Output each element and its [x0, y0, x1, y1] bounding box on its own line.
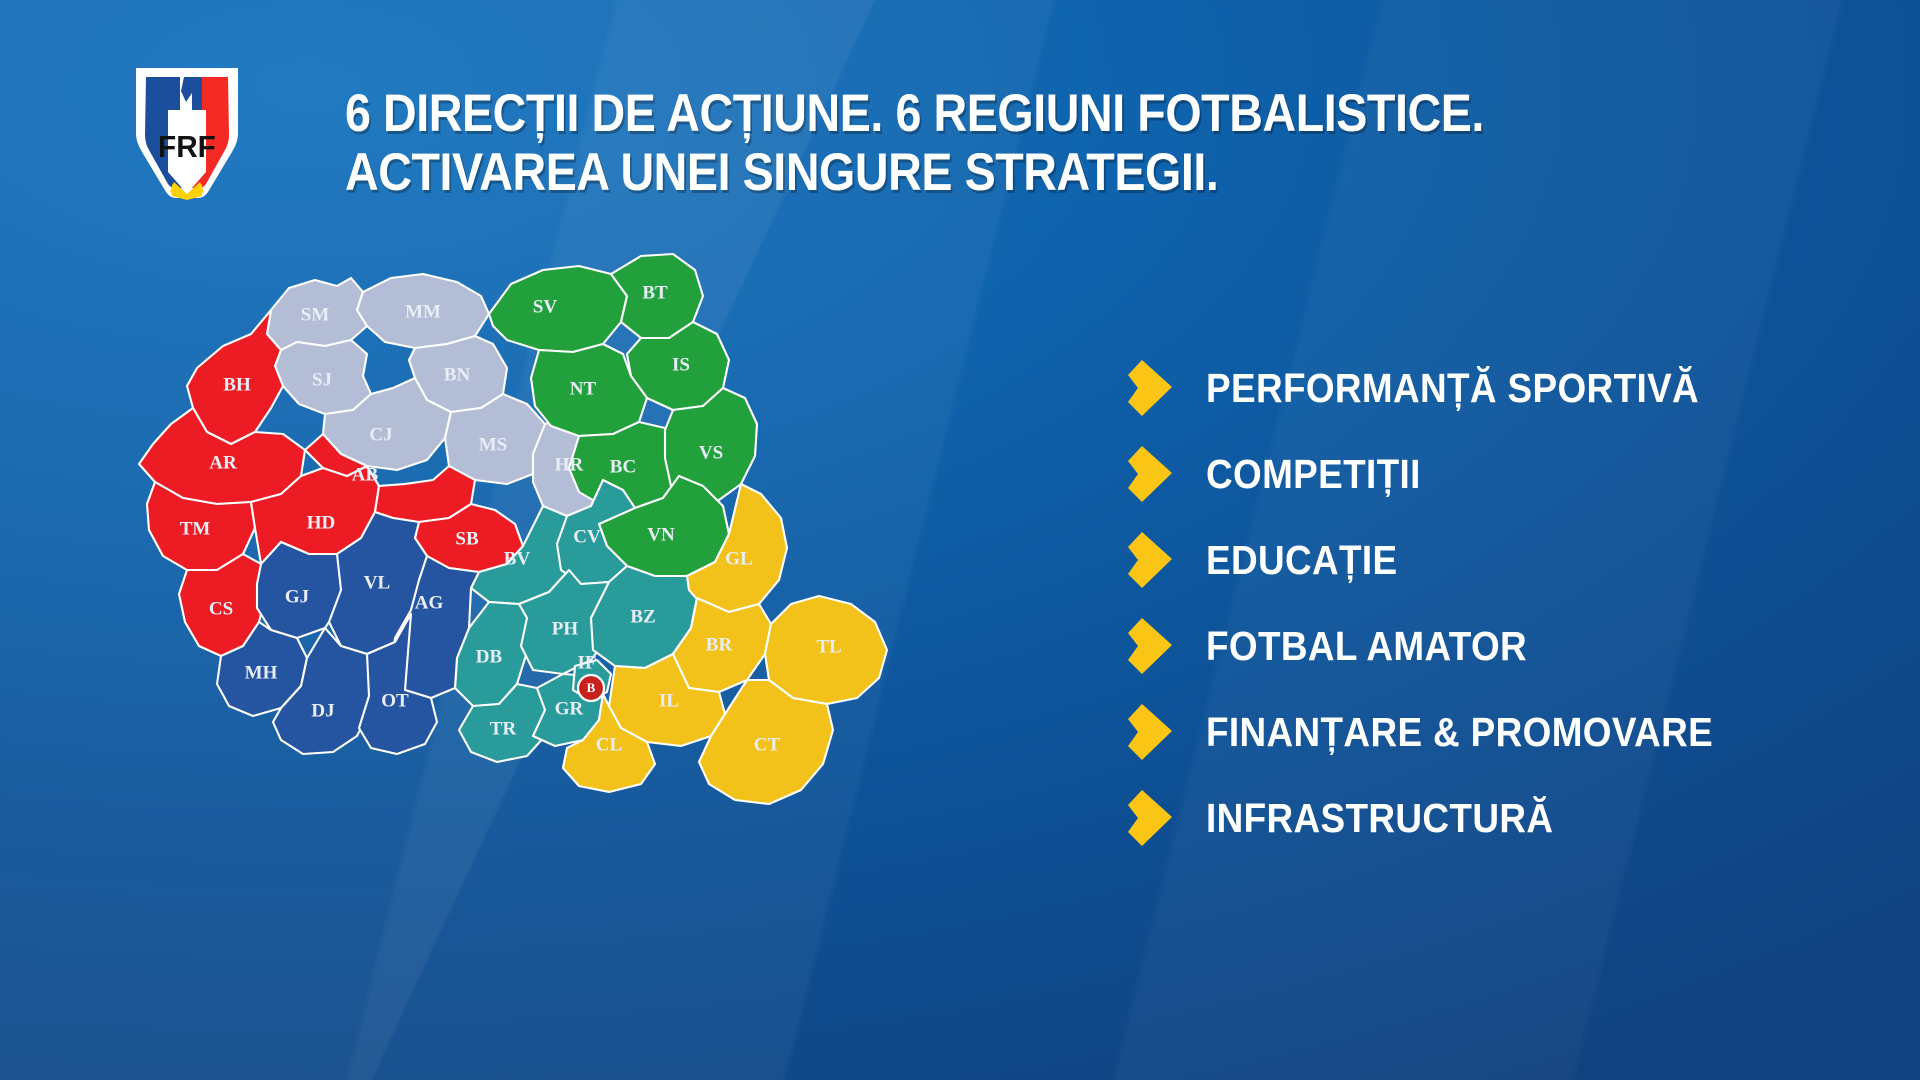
county-label-VL: VL — [364, 572, 390, 593]
direction-item-competitii[interactable]: COMPETIȚII — [1120, 431, 1860, 517]
county-label-CJ: CJ — [369, 424, 392, 445]
county-label-HR: HR — [555, 454, 584, 475]
county-label-SJ: SJ — [312, 369, 332, 390]
county-label-TL: TL — [816, 636, 841, 657]
direction-label: FOTBAL AMATOR — [1206, 624, 1527, 668]
county-label-PH: PH — [552, 618, 579, 639]
county-label-SB: SB — [455, 528, 479, 549]
county-label-DB: DB — [476, 646, 503, 667]
county-label-MS: MS — [479, 434, 508, 455]
direction-label: FINANȚARE & PROMOVARE — [1206, 710, 1713, 754]
direction-label: EDUCAȚIE — [1206, 538, 1397, 582]
county-label-BH: BH — [223, 374, 251, 395]
county-label-AR: AR — [209, 452, 237, 473]
county-label-MH: MH — [245, 662, 278, 683]
county-label-OT: OT — [381, 690, 409, 711]
direction-item-fotbal-amator[interactable]: FOTBAL AMATOR — [1120, 603, 1860, 689]
logo-wordmark: FRF — [158, 129, 216, 164]
diamond-chevron-icon — [1120, 532, 1172, 588]
direction-item-finantare-promovare[interactable]: FINANȚARE & PROMOVARE — [1120, 689, 1860, 775]
county-label-AG: AG — [415, 592, 444, 613]
county-label-TR: TR — [490, 718, 517, 739]
county-label-BN: BN — [444, 364, 471, 385]
county-label-IS: IS — [672, 354, 690, 375]
county-label-CT: CT — [754, 734, 781, 755]
county-label-BV: BV — [504, 548, 531, 569]
county-label-BR: BR — [706, 634, 733, 655]
county-label-CV: CV — [573, 526, 601, 547]
county-label-SM: SM — [301, 304, 330, 325]
county-label-DJ: DJ — [311, 700, 334, 721]
county-label-GL: GL — [725, 548, 752, 569]
county-label-GJ: GJ — [285, 586, 309, 607]
county-label-MM: MM — [405, 301, 441, 322]
title-line-1: 6 DIRECȚII DE ACȚIUNE. 6 REGIUNI FOTBALI… — [345, 84, 1445, 143]
romania-map-svg: B SM MM SJ BN CJ MS HR BH AR TM CS HD AB… — [75, 218, 915, 838]
diamond-chevron-icon — [1120, 360, 1172, 416]
county-label-NT: NT — [570, 378, 597, 399]
direction-label: PERFORMANȚĂ SPORTIVĂ — [1206, 366, 1699, 410]
county-label-BC: BC — [610, 456, 636, 477]
diamond-chevron-icon — [1120, 618, 1172, 674]
county-label-GR: GR — [555, 698, 584, 719]
frf-shield-logo: FRF — [128, 60, 246, 200]
county-label-VN: VN — [647, 524, 675, 545]
capital-marker-label: B — [587, 680, 596, 695]
poster-canvas: FRF 6 DIRECȚII DE ACȚIUNE. 6 REGIUNI FOT… — [0, 0, 1920, 1080]
county-SV — [489, 266, 627, 352]
county-label-BZ: BZ — [630, 606, 655, 627]
diamond-chevron-icon — [1120, 704, 1172, 760]
county-label-AB: AB — [352, 464, 379, 485]
capital-marker-bucuresti: B — [578, 675, 604, 701]
county-label-HD: HD — [307, 512, 336, 533]
romania-map: B SM MM SJ BN CJ MS HR BH AR TM CS HD AB… — [75, 218, 915, 838]
direction-item-infrastructura[interactable]: INFRASTRUCTURĂ — [1120, 775, 1860, 861]
directions-list: PERFORMANȚĂ SPORTIVĂ COMPETIȚII EDUCAȚIE… — [1120, 345, 1860, 861]
county-label-VS: VS — [699, 442, 723, 463]
direction-label: INFRASTRUCTURĂ — [1206, 796, 1553, 840]
county-label-TM: TM — [180, 518, 211, 539]
diamond-chevron-icon — [1120, 446, 1172, 502]
county-label-BT: BT — [642, 282, 668, 303]
page-title: 6 DIRECȚII DE ACȚIUNE. 6 REGIUNI FOTBALI… — [345, 84, 1445, 202]
county-label-CS: CS — [209, 598, 233, 619]
county-label-IF: IF — [578, 652, 597, 673]
direction-item-educatie[interactable]: EDUCAȚIE — [1120, 517, 1860, 603]
county-label-CL: CL — [596, 734, 622, 755]
header: FRF 6 DIRECȚII DE ACȚIUNE. 6 REGIUNI FOT… — [0, 0, 1920, 230]
county-label-IL: IL — [659, 690, 679, 711]
county-label-SV: SV — [533, 296, 558, 317]
title-line-2: ACTIVAREA UNEI SINGURE STRATEGII. — [345, 143, 1445, 202]
diamond-chevron-icon — [1120, 790, 1172, 846]
direction-item-performanta-sportiva[interactable]: PERFORMANȚĂ SPORTIVĂ — [1120, 345, 1860, 431]
direction-label: COMPETIȚII — [1206, 452, 1421, 496]
